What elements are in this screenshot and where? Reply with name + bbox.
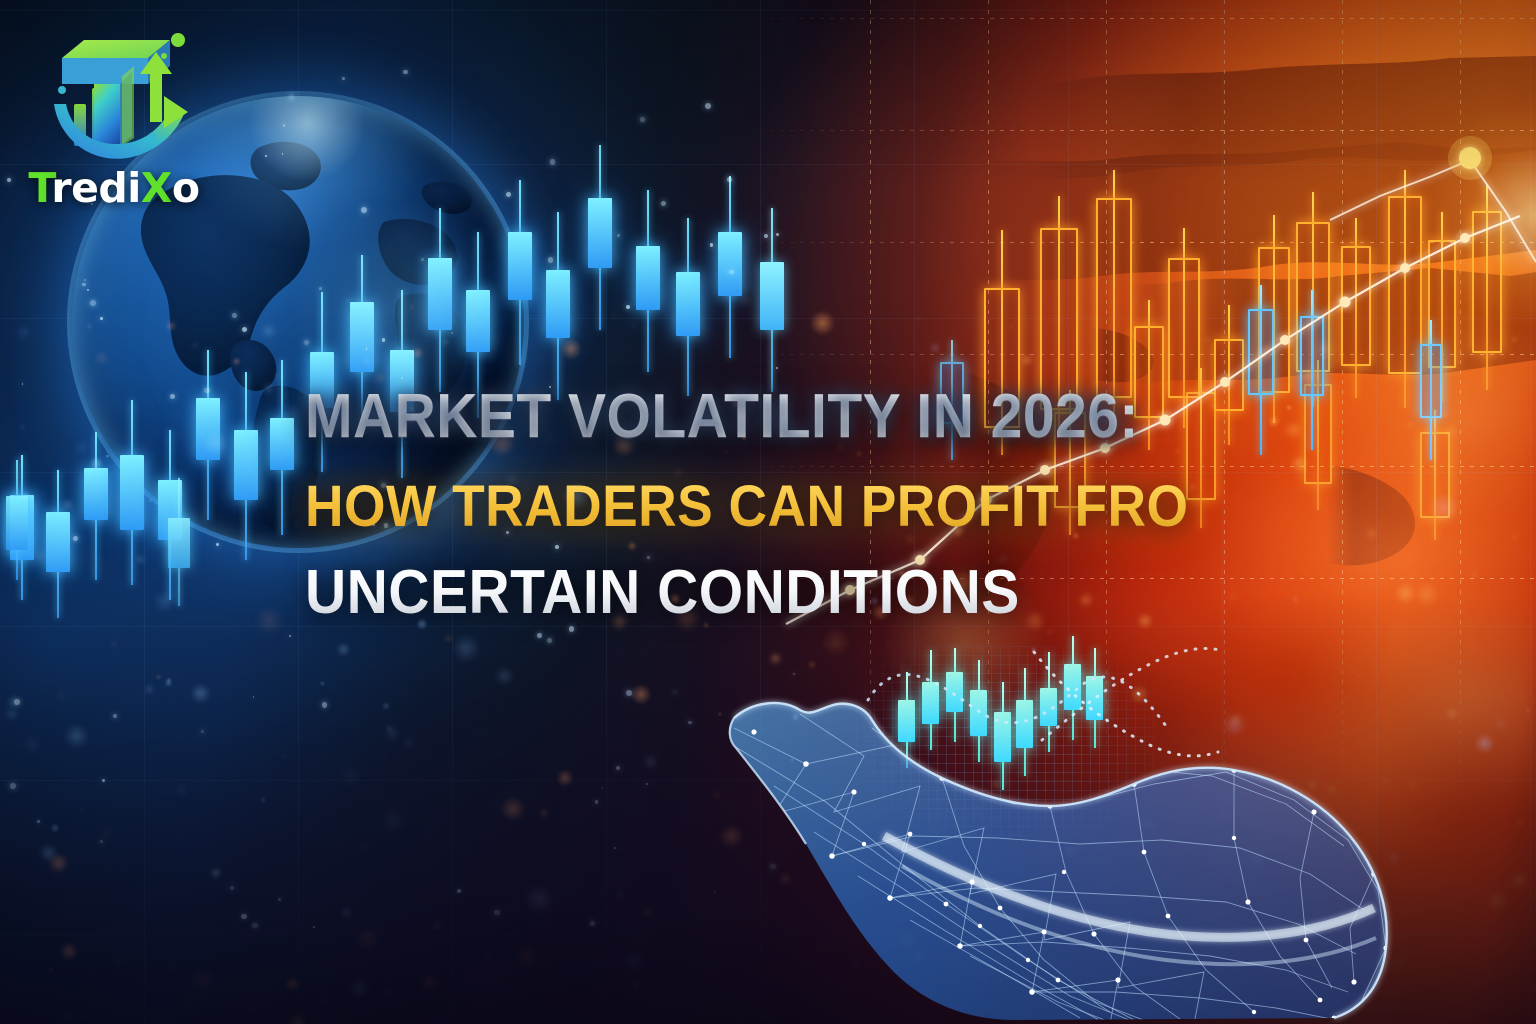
star-speck [661,201,666,206]
bokeh-dot [500,796,526,822]
bokeh-dot [260,797,266,803]
bokeh-dot [361,845,366,850]
star-speck [602,787,604,789]
bokeh-dot [810,310,835,335]
brand-logo[interactable]: TrediXo [26,18,202,214]
bokeh-dot [254,606,284,636]
star-speck [776,367,778,369]
bokeh-dot [174,782,189,797]
star-speck [37,820,40,823]
bokeh-dot [1298,367,1316,385]
bokeh-dot [539,808,549,818]
star-speck [494,910,500,916]
bokeh-dot [1284,420,1304,440]
trendline-t-logo-icon [38,18,190,168]
bokeh-dot [1406,420,1415,429]
star-speck [7,178,11,182]
candlestick [676,218,700,396]
bokeh-dot [104,830,109,835]
candlestick [636,190,660,372]
star-speck [22,383,24,385]
bokeh-dot [320,681,325,686]
star-speck [457,889,461,893]
star-speck [590,921,595,926]
star-speck [201,730,204,733]
star-speck [640,117,645,122]
candlestick [10,455,34,600]
bokeh-dot [39,843,59,863]
bokeh-dot [1512,535,1518,541]
bokeh-dot [1474,733,1496,755]
star-speck [550,159,555,164]
bokeh-dot [1312,337,1338,363]
lens-flare [1420,100,1536,330]
bokeh-dot [5,707,19,721]
bokeh-dot [190,683,211,704]
headline-line-3: UNCERTAIN CONDITIONS [305,562,1188,624]
bokeh-dot [631,323,636,328]
bokeh-dot [385,724,394,733]
star-speck [253,696,255,698]
star-speck [595,800,599,804]
bokeh-dot [642,754,658,770]
star-speck [537,633,542,638]
bokeh-dot [741,296,751,306]
bokeh-dot [144,684,155,695]
star-speck [289,635,291,637]
bokeh-dot [1487,969,1494,976]
bokeh-dot [246,916,250,920]
bokeh-dot [164,679,172,687]
bokeh-dot [1134,368,1142,376]
candlestick [6,460,28,580]
star-speck [764,234,769,239]
bokeh-dot [348,978,369,999]
candlestick [1420,410,1450,540]
bokeh-dot [17,326,30,339]
star-speck [14,699,20,705]
bokeh-dot [20,424,25,429]
bokeh-dot [382,702,390,710]
bokeh-dot [1486,890,1508,912]
headline-block: MARKET VOLATILITY IN 2026: HOW TRADERS C… [305,386,1265,624]
bokeh-dot [1348,306,1353,311]
candlestick [588,145,612,330]
bokeh-dot [443,633,454,644]
bokeh-dot [642,907,653,918]
bokeh-dot [422,975,437,990]
bokeh-dot [1009,325,1013,329]
bokeh-dot [1470,571,1477,578]
star-speck [278,898,281,901]
bokeh-dot [1268,416,1279,427]
star-speck [626,305,630,309]
bokeh-dot [59,942,79,962]
star-speck [113,714,117,718]
bokeh-dot [1286,404,1292,410]
brand-name-part2: redi [51,164,140,212]
headline-line-2: HOW TRADERS CAN PROFIT FROM [305,478,1188,536]
candlestick [1300,290,1324,450]
bokeh-dot [49,968,53,972]
star-speck [710,243,714,247]
bokeh-dot [1366,528,1377,539]
star-speck [213,870,218,875]
star-speck [626,690,632,696]
bokeh-dot [1394,582,1417,605]
bokeh-dot [671,688,679,696]
bokeh-dot [630,979,641,990]
bokeh-dot [524,884,554,914]
bokeh-dot [1428,492,1459,523]
brand-name-part3: X [141,164,172,212]
candlestick [1341,218,1371,398]
bokeh-dot [1414,582,1439,607]
bokeh-dot [1055,317,1060,322]
bokeh-dot [381,809,405,833]
bokeh-dot [153,590,176,613]
star-speck [727,177,732,182]
bokeh-dot [380,986,397,1003]
bokeh-dot [21,491,30,500]
bokeh-dot [1441,410,1450,419]
bokeh-dot [1290,455,1309,474]
candlestick [1304,360,1332,510]
bokeh-dot [85,981,92,988]
bokeh-dot [622,949,646,973]
bokeh-dot [1291,595,1300,604]
bokeh-dot [336,642,351,657]
star-speck [646,783,648,785]
bokeh-dot [495,666,514,685]
headline-line-1: MARKET VOLATILITY IN 2026: [305,386,1188,448]
star-speck [617,234,620,237]
star-speck [102,779,105,782]
bokeh-dot [1492,715,1508,731]
candlestick [1296,192,1330,407]
star-speck [241,914,246,919]
bokeh-dot [452,634,480,662]
bokeh-dot [615,889,625,899]
bokeh-dot [481,947,494,960]
candlestick [46,470,70,618]
star-speck [776,233,779,236]
bokeh-dot [5,694,22,711]
bokeh-dot [611,313,616,318]
bokeh-dot [58,692,65,699]
bokeh-dot [403,737,415,749]
bokeh-dot [285,976,301,992]
bokeh-dot [135,554,146,565]
star-speck [322,702,327,707]
bokeh-dot [63,723,89,749]
bokeh-dot [62,1013,72,1023]
bokeh-dot [1445,707,1458,720]
bokeh-dot [318,999,323,1004]
star-speck [729,270,733,274]
brand-name: TrediXo [26,168,202,209]
bokeh-dot [630,684,651,705]
star-speck [688,721,691,724]
brand-name-part1: T [28,164,51,212]
bokeh-dot [917,316,922,321]
bokeh-dot [1257,343,1275,361]
bokeh-dot [48,853,68,873]
bokeh-dot [31,548,48,565]
bokeh-dot [356,927,380,951]
bokeh-dot [556,769,574,787]
bokeh-dot [1526,708,1530,712]
bokeh-dot [155,674,161,680]
star-speck [705,103,711,109]
bokeh-dot [386,728,398,740]
bokeh-dot [114,955,124,965]
wireframe-hand [714,636,1414,1024]
bokeh-dot [22,734,42,754]
star-speck [313,926,315,928]
bokeh-dot [434,923,441,930]
bokeh-dot [50,823,60,833]
star-speck [230,886,234,890]
candlestick [718,176,742,358]
bokeh-dot [1021,354,1033,366]
bokeh-dot [1203,334,1212,343]
bokeh-dot [560,338,582,360]
star-speck [100,840,103,843]
bokeh-dot [1443,423,1459,439]
bokeh-dot [930,343,940,353]
bokeh-dot [191,968,215,992]
bokeh-dot [80,808,84,812]
candlestick [1388,170,1422,408]
candlestick [1420,320,1442,460]
star-speck [614,847,616,849]
bokeh-dot [515,945,538,968]
bokeh-dot [647,912,653,918]
bokeh-dot [1511,872,1528,889]
bokeh-dot [112,641,118,647]
bokeh-dot [1517,820,1521,824]
bokeh-dot [1510,335,1519,344]
star-speck [403,70,407,74]
bokeh-dot [287,1013,309,1024]
brand-name-part4: o [172,164,200,212]
star-speck [569,626,575,632]
star-speck [252,923,257,928]
bokeh-dot [282,755,286,759]
bokeh-dot [341,766,361,786]
bokeh-dot [339,905,354,920]
bokeh-dot [166,677,172,683]
star-speck [547,638,552,643]
bokeh-dot [246,1005,257,1016]
star-speck [616,766,620,770]
star-speck [10,783,16,789]
poster-canvas: TrediXo MARKET VOLATILITY IN 2026: HOW T… [0,0,1536,1024]
candlestick [760,208,784,392]
bokeh-dot [498,750,502,754]
